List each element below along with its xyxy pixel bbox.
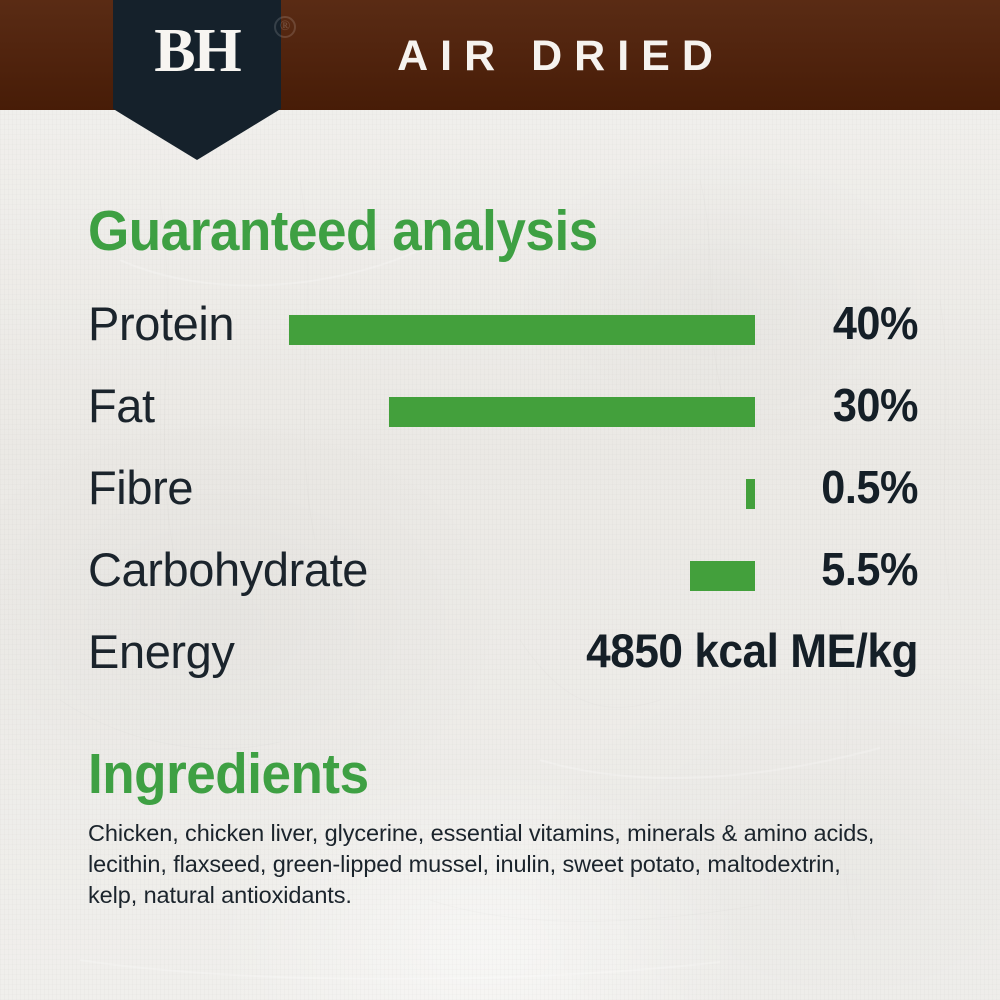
analysis-bar-track [88, 561, 755, 591]
analysis-bar [690, 561, 755, 591]
analysis-row-carbohydrate: Carbohydrate 5.5% [88, 542, 918, 624]
ingredients-heading: Ingredients [88, 746, 369, 803]
analysis-row-value: 4850 kcal ME/kg [392, 622, 918, 680]
analysis-row-fibre: Fibre 0.5% [88, 460, 918, 542]
registered-trademark-icon: ® [274, 16, 296, 38]
analysis-bar [746, 479, 755, 509]
analysis-row-value: 5.5% [768, 540, 918, 598]
analysis-bar-track [88, 397, 755, 427]
analysis-bar-track [88, 479, 755, 509]
analysis-row-fat: Fat 30% [88, 378, 918, 460]
analysis-row-protein: Protein 40% [88, 296, 918, 378]
analysis-bar [289, 315, 755, 345]
analysis-bar-track [88, 315, 755, 345]
analysis-row-energy: Energy 4850 kcal ME/kg [88, 624, 918, 706]
brand-logo-label: BH [154, 20, 240, 82]
product-label-panel: ® AIR DRIED BH Guaranteed analysis Prote… [0, 0, 1000, 1000]
ingredients-body-text: Chicken, chicken liver, glycerine, essen… [88, 818, 878, 911]
analysis-row-value: 30% [768, 376, 918, 434]
analysis-row-value: 0.5% [768, 458, 918, 516]
analysis-row-value: 40% [768, 294, 918, 352]
guaranteed-analysis-chart: Protein 40% Fat 30% Fibre 0.5% [88, 296, 918, 706]
analysis-bar [389, 397, 755, 427]
guaranteed-analysis-heading: Guaranteed analysis [88, 203, 598, 260]
analysis-row-label: Energy [88, 624, 235, 680]
label-content: Guaranteed analysis Protein 40% Fat 30% … [0, 0, 1000, 1000]
